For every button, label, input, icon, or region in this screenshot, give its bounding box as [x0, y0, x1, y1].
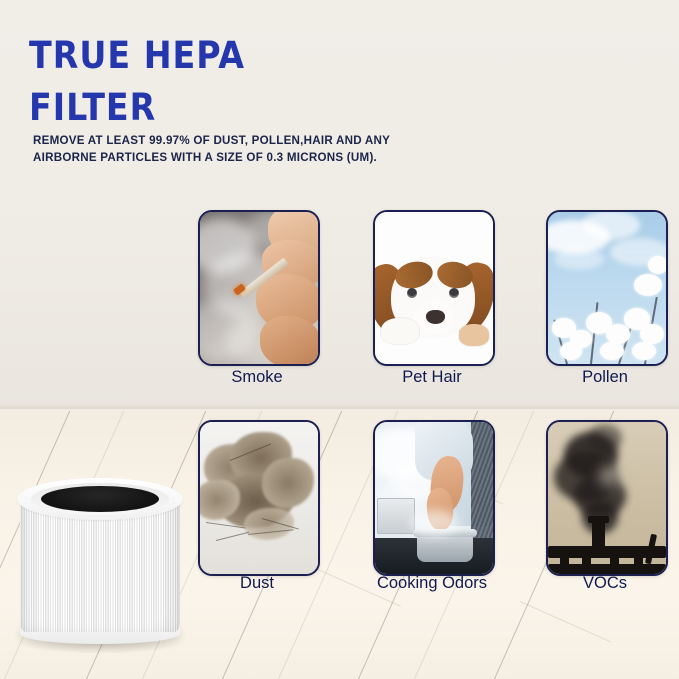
hepa-filter-product: [13, 470, 188, 655]
pet-hair-illustration: [375, 212, 493, 364]
title-line-2: FILTER: [29, 82, 449, 134]
vocs-illustration: [548, 422, 666, 574]
dust-illustration: [200, 422, 318, 574]
feature-card-pet-hair[interactable]: [373, 210, 495, 366]
page-title: TRUE HEPA FILTER: [29, 30, 449, 134]
feature-card-smoke[interactable]: [198, 210, 320, 366]
description-text: REMOVE AT LEAST 99.97% OF DUST, POLLEN,H…: [33, 133, 433, 166]
caption-vocs: VOCs: [525, 573, 679, 593]
caption-pet-hair: Pet Hair: [352, 367, 512, 387]
smoke-illustration: [200, 212, 318, 364]
pollen-illustration: [548, 212, 666, 364]
caption-dust: Dust: [177, 573, 337, 593]
feature-card-cooking-odors[interactable]: [373, 420, 495, 576]
feature-card-dust[interactable]: [198, 420, 320, 576]
caption-cooking-odors: Cooking Odors: [352, 573, 512, 593]
caption-pollen: Pollen: [525, 367, 679, 387]
feature-card-vocs[interactable]: [546, 420, 668, 576]
product-feature-banner: TRUE HEPA FILTER REMOVE AT LEAST 99.97% …: [0, 0, 679, 679]
cooking-odors-illustration: [375, 422, 493, 574]
filter-carbon-core: [41, 486, 159, 512]
caption-smoke: Smoke: [177, 367, 337, 387]
title-line-1: TRUE HEPA: [29, 30, 449, 82]
feature-card-pollen[interactable]: [546, 210, 668, 366]
